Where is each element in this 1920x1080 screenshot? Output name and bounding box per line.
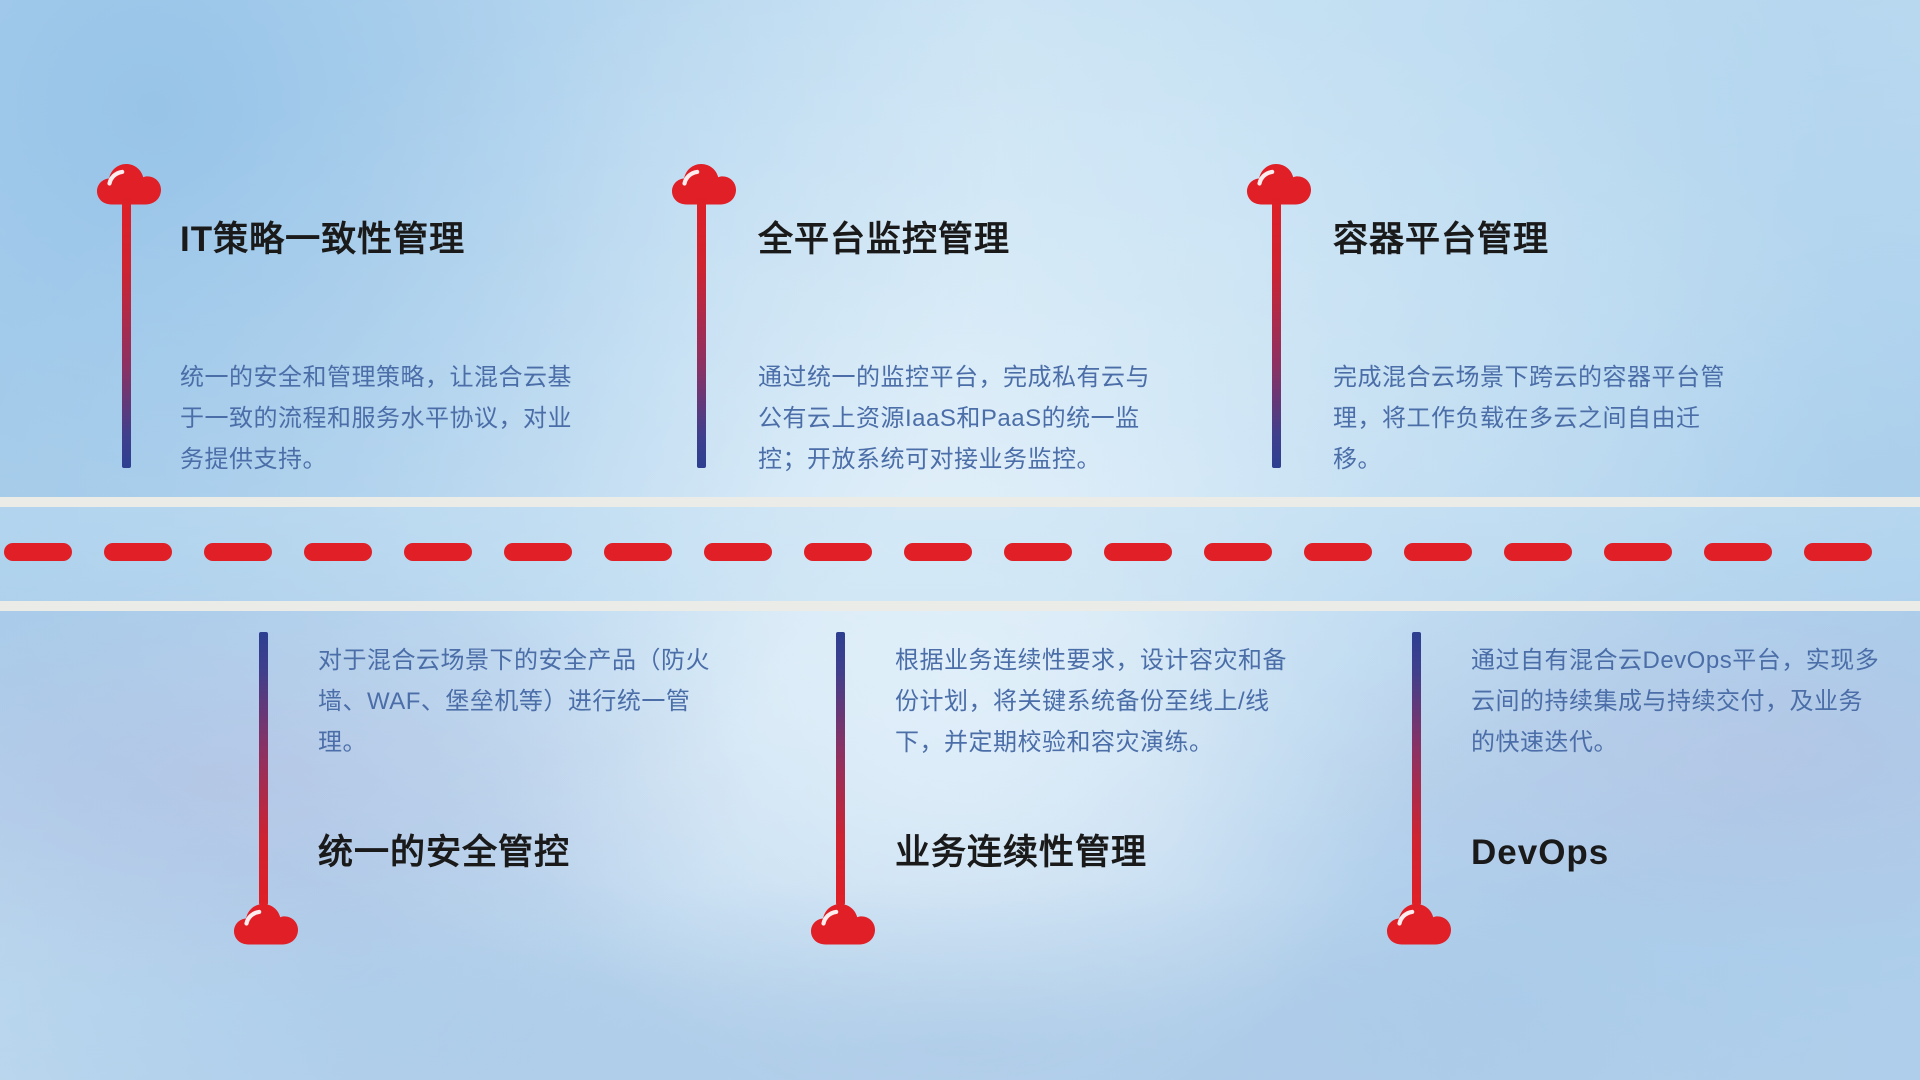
item-description: 统一的安全和管理策略，让混合云基于一致的流程和服务水平协议，对业务提供支持。 xyxy=(180,357,590,480)
road-lane-line-top xyxy=(0,497,1920,507)
road-dash xyxy=(904,543,972,561)
cloud-icon xyxy=(1385,898,1455,946)
road-dash xyxy=(404,543,472,561)
pin-stem xyxy=(1412,632,1421,905)
road-dash xyxy=(1204,543,1272,561)
item-description: 通过统一的监控平台，完成私有云与公有云上资源IaaS和PaaS的统一监控；开放系… xyxy=(758,357,1168,480)
road-center-dashes xyxy=(0,543,1920,561)
pin-stem xyxy=(836,632,845,905)
road-dash xyxy=(804,543,872,561)
road-dash xyxy=(4,543,72,561)
item-title: 统一的安全管控 xyxy=(318,835,570,870)
road-dash xyxy=(1604,543,1672,561)
road-dash xyxy=(1504,543,1572,561)
item-title: DevOps xyxy=(1471,835,1609,870)
road-dash xyxy=(1104,543,1172,561)
infographic-canvas: IT策略一致性管理 统一的安全和管理策略，让混合云基于一致的流程和服务水平协议，… xyxy=(0,0,1920,1080)
pin-stem xyxy=(697,196,706,468)
pin-stem xyxy=(259,632,268,905)
item-title: 全平台监控管理 xyxy=(758,222,1010,257)
item-description: 完成混合云场景下跨云的容器平台管理，将工作负载在多云之间自由迁移。 xyxy=(1333,357,1743,480)
road-dash xyxy=(304,543,372,561)
road-dash xyxy=(104,543,172,561)
road-dash xyxy=(1004,543,1072,561)
pin-stem xyxy=(1272,196,1281,468)
item-title: IT策略一致性管理 xyxy=(180,222,465,257)
road-dash xyxy=(704,543,772,561)
item-description: 对于混合云场景下的安全产品（防火墙、WAF、堡垒机等）进行统一管理。 xyxy=(318,640,728,763)
cloud-icon xyxy=(232,898,302,946)
road-dash xyxy=(604,543,672,561)
road-dash xyxy=(1404,543,1472,561)
item-title: 业务连续性管理 xyxy=(895,835,1147,870)
cloud-icon xyxy=(809,898,879,946)
item-title: 容器平台管理 xyxy=(1333,222,1549,257)
road-dash xyxy=(1704,543,1772,561)
road-dash xyxy=(1804,543,1872,561)
item-description: 通过自有混合云DevOps平台，实现多云间的持续集成与持续交付，及业务的快速迭代… xyxy=(1471,640,1881,763)
road-dash xyxy=(204,543,272,561)
pin-stem xyxy=(122,196,131,468)
road-dash xyxy=(1304,543,1372,561)
item-description: 根据业务连续性要求，设计容灾和备份计划，将关键系统备份至线上/线下，并定期校验和… xyxy=(895,640,1305,763)
road-dash xyxy=(504,543,572,561)
road-lane-line-bottom xyxy=(0,601,1920,611)
